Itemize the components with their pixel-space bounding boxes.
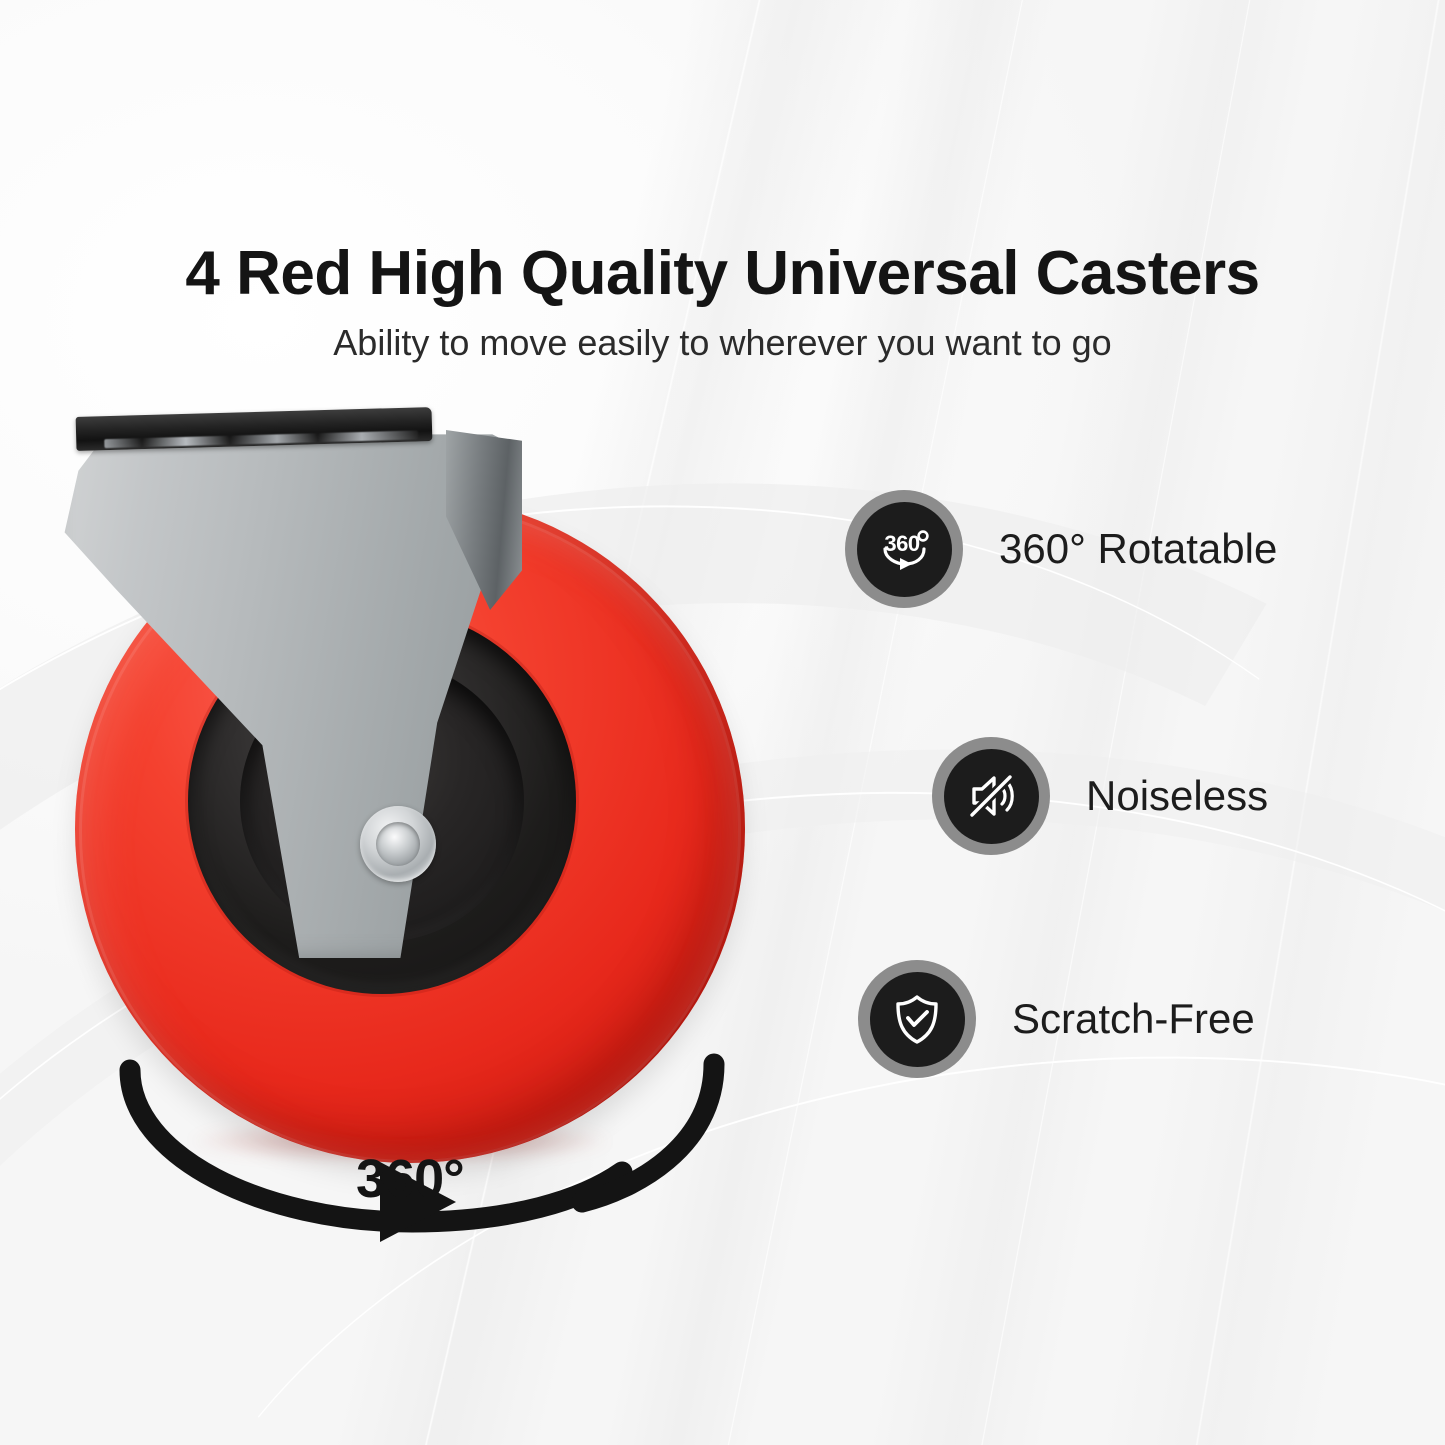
speaker-mute-icon <box>960 765 1022 827</box>
axle-bolt-core <box>376 822 420 866</box>
feature-badge-core <box>870 972 965 1067</box>
feature-label: Noiseless <box>1086 772 1268 820</box>
svg-text:360: 360 <box>884 531 919 556</box>
feature-badge-ring: 360 <box>845 490 963 608</box>
rotation-arc-annotation <box>112 1036 752 1256</box>
page-subtitle: Ability to move easily to wherever you w… <box>0 322 1445 364</box>
rotate-360-icon: 360 <box>872 517 936 581</box>
infographic-canvas: 4 Red High Quality Universal Casters Abi… <box>0 0 1445 1445</box>
feature-360-rotatable: 360 360° Rotatable <box>845 490 1277 608</box>
feature-badge-ring <box>858 960 976 1078</box>
rotation-arc-icon <box>112 1036 752 1256</box>
page-title: 4 Red High Quality Universal Casters <box>0 238 1445 309</box>
feature-badge-core <box>944 749 1039 844</box>
caster-bracket <box>60 398 520 958</box>
axle-bolt <box>360 806 436 882</box>
feature-badge-core: 360 <box>857 502 952 597</box>
feature-label: Scratch-Free <box>1012 995 1255 1043</box>
feature-scratch-free: Scratch-Free <box>858 960 1255 1078</box>
feature-noiseless: Noiseless <box>932 737 1268 855</box>
feature-label: 360° Rotatable <box>999 525 1277 573</box>
shield-check-icon <box>886 988 948 1050</box>
feature-badge-ring <box>932 737 1050 855</box>
rotation-degree-label: 360° <box>356 1148 464 1210</box>
